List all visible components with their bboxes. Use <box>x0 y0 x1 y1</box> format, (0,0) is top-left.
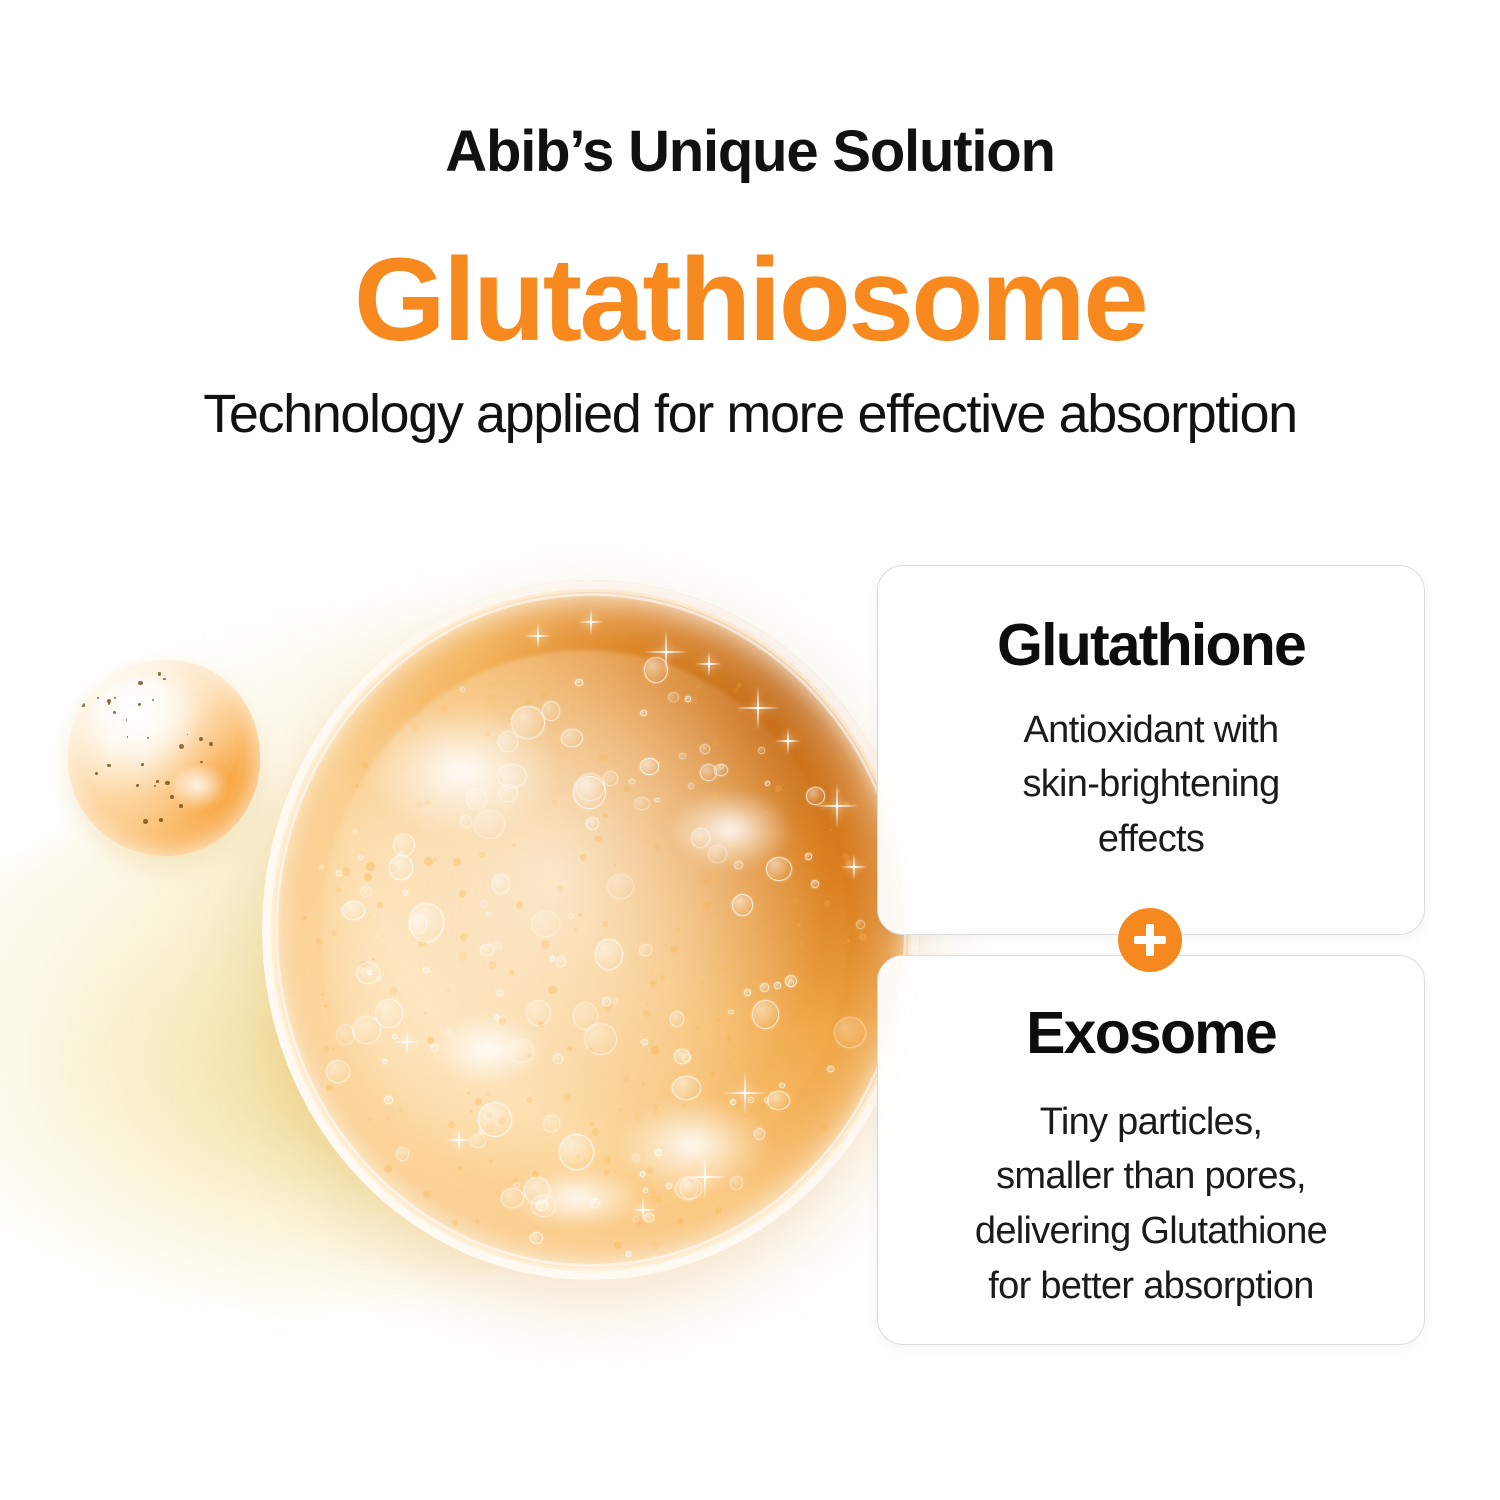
gel-grain <box>453 858 461 866</box>
gel-bubble <box>573 1002 598 1030</box>
sparkle-icon <box>525 623 551 649</box>
gel-grain <box>768 1060 773 1065</box>
gel-bubble <box>494 942 502 949</box>
gel-bubble <box>603 771 617 785</box>
gel-bubble <box>531 911 560 938</box>
droplet-speck <box>165 781 169 785</box>
gel-grain <box>433 857 438 862</box>
gel-bubble <box>607 874 634 898</box>
gel-grain <box>652 1241 661 1250</box>
gel-grain <box>324 1005 326 1007</box>
gel-bubble <box>700 744 710 753</box>
gel-grain <box>571 756 574 759</box>
gel-bubble <box>492 874 511 893</box>
gel-grain <box>431 694 435 698</box>
gel-grain <box>646 1003 648 1005</box>
gel-bubble <box>834 1017 865 1048</box>
gel-bubble <box>393 834 415 856</box>
info-card-exosome[interactable]: Exosome Tiny particles,smaller than pore… <box>877 955 1425 1345</box>
sparkle-icon <box>683 1155 727 1199</box>
gel-grain <box>824 900 831 907</box>
gel-grain <box>578 913 582 917</box>
gel-bubble <box>480 944 494 956</box>
gel-bubble <box>827 1066 834 1073</box>
gel-grain <box>381 935 383 937</box>
gel-bubble <box>375 999 402 1028</box>
droplet-speck <box>159 818 163 822</box>
sparkle-icon <box>644 630 688 674</box>
sparkle-icon <box>631 1197 657 1223</box>
gel-grain <box>424 1012 427 1015</box>
gel-grain <box>715 1017 721 1023</box>
gel-droplet <box>68 660 260 856</box>
gel-bubble <box>409 903 444 942</box>
gel-bubble <box>336 1024 354 1045</box>
gel-grain <box>342 867 350 875</box>
gel-bubble <box>586 817 599 830</box>
gel-grain <box>602 921 608 927</box>
gel-grain <box>361 1073 363 1075</box>
gel-grain <box>573 928 578 933</box>
gel-grain <box>332 1047 335 1050</box>
gel-bubble <box>389 855 413 879</box>
gel-grain <box>715 1207 722 1214</box>
gel-grain <box>423 1191 430 1198</box>
gel-sheen <box>670 790 790 870</box>
gel-bubble <box>553 1054 562 1063</box>
gel-grain <box>859 933 867 941</box>
plus-icon-vertical-bar <box>1146 924 1154 956</box>
sparkle-icon <box>723 1071 767 1115</box>
gel-grain <box>758 1052 764 1058</box>
gel-bubble <box>543 1115 560 1131</box>
gel-grain <box>419 700 422 703</box>
droplet-highlight <box>91 680 202 770</box>
gel-bubble <box>575 679 583 686</box>
gel-grain <box>399 1107 403 1111</box>
gel-bubble <box>752 1000 779 1029</box>
gel-grain <box>592 1128 599 1135</box>
gel-grain <box>567 1046 572 1051</box>
gel-bubble <box>766 857 792 881</box>
droplet-speck <box>158 672 161 675</box>
gel-bubble <box>629 779 634 785</box>
gel-grain <box>459 890 466 897</box>
gel-grain <box>703 901 711 909</box>
sparkle-icon <box>696 651 722 677</box>
gel-grain <box>475 1219 480 1224</box>
gel-bubble <box>767 1091 790 1110</box>
gel-grain <box>321 993 324 996</box>
gel-bubble <box>668 692 679 702</box>
gel-bubble <box>758 747 765 754</box>
plus-icon <box>1118 908 1182 972</box>
gel-bubble <box>641 1039 648 1045</box>
card-description: Tiny particles,smaller than pores,delive… <box>975 1095 1327 1314</box>
gel-bubble <box>358 855 363 860</box>
gel-grain <box>541 940 550 949</box>
gel-grain <box>812 1084 817 1089</box>
gel-bubble <box>319 865 324 869</box>
gel-bubble <box>576 773 605 801</box>
gel-grain <box>797 923 801 927</box>
gel-grain <box>580 854 587 861</box>
gel-grain <box>525 699 532 706</box>
gel-grain <box>487 693 495 701</box>
gel-grain <box>512 843 516 847</box>
gel-grain <box>527 1097 532 1102</box>
gel-sheen <box>512 1168 642 1228</box>
droplet-speck <box>156 780 158 782</box>
gel-grain <box>324 1046 329 1051</box>
gel-bubble <box>530 1232 543 1244</box>
droplet-speck <box>209 742 213 746</box>
gel-grain <box>720 967 726 973</box>
card-title: Glutathione <box>997 614 1305 677</box>
droplet-speck <box>97 697 99 699</box>
droplet-speck <box>89 687 91 689</box>
gel-bubble <box>728 1010 733 1014</box>
gel-grain <box>372 958 375 961</box>
eyebrow-heading: Abib’s Unique Solution <box>0 122 1500 183</box>
gel-grain <box>516 901 524 909</box>
gel-grain <box>748 1006 752 1010</box>
gel-grain <box>614 1241 622 1249</box>
gel-grain <box>303 916 308 921</box>
gel-bubble <box>353 829 358 835</box>
droplet-speck <box>170 795 175 800</box>
gel-bubble <box>674 1049 690 1064</box>
sparkle-icon <box>841 854 867 880</box>
gel-bubble <box>679 753 685 759</box>
droplet-speck <box>105 674 108 677</box>
gel-grain <box>830 829 832 831</box>
droplet-speck <box>127 736 129 738</box>
sparkle-icon <box>736 686 780 730</box>
sparkle-icon <box>578 609 604 635</box>
gel-grain <box>458 952 467 961</box>
gel-grain <box>603 1156 611 1164</box>
petri-dish <box>262 580 920 1280</box>
gel-bubble <box>326 1060 350 1083</box>
gel-grain <box>807 1008 814 1015</box>
droplet-speck <box>95 772 98 775</box>
gel-grain <box>642 1082 645 1085</box>
gel-grain <box>599 753 608 762</box>
info-card-glutathione[interactable]: Glutathione Antioxidant withskin-brighte… <box>877 565 1425 935</box>
gel-grain <box>821 1124 828 1131</box>
droplet-speck <box>179 804 183 808</box>
gel-bubble <box>526 1000 551 1026</box>
gel-bubble <box>360 886 372 897</box>
gel-bubble <box>856 920 865 930</box>
sparkle-icon <box>815 784 859 828</box>
gel-sheen <box>433 1014 543 1084</box>
gel-grain <box>467 1092 470 1095</box>
gel-bubble <box>336 870 342 876</box>
gel-grain <box>656 1196 662 1202</box>
gel-bubble <box>396 1147 409 1161</box>
droplet-speck <box>152 699 154 701</box>
gel-grain <box>595 836 601 842</box>
gel-bubble <box>688 783 694 788</box>
gel-bubble <box>626 1251 631 1257</box>
droplet-speck <box>138 681 142 685</box>
gel-bubble <box>779 1083 785 1088</box>
gel-grain <box>366 862 375 871</box>
sparkle-icon <box>394 1029 420 1055</box>
droplet-speck <box>143 819 148 824</box>
gel-bubble <box>760 983 769 991</box>
gel-grain <box>619 1109 622 1112</box>
gel-bubble <box>423 967 428 973</box>
gel-bubble <box>744 989 751 996</box>
gel-bubble <box>460 687 465 692</box>
droplet-speck <box>200 761 203 764</box>
gel-bubble <box>470 1134 486 1147</box>
gel-grain <box>570 708 575 713</box>
gel-sheen <box>367 706 557 836</box>
droplet-speck <box>141 763 144 766</box>
droplet-highlight-secondary <box>172 766 230 809</box>
gel-bubble <box>700 764 717 781</box>
gel-bubble <box>480 900 488 907</box>
gel-bubble <box>634 797 650 810</box>
gel-grain <box>798 941 803 946</box>
gel-grain <box>548 986 556 994</box>
gel-grain <box>651 1046 659 1054</box>
gel-grain <box>624 786 630 792</box>
gel-grain <box>326 1085 333 1092</box>
gel-grain <box>452 1220 458 1226</box>
page-subtitle: Technology applied for more effective ab… <box>0 385 1500 444</box>
gel-grain <box>316 938 323 945</box>
gel-grain <box>556 885 564 893</box>
promo-graphic: Abib’s Unique Solution Glutathiosome Tec… <box>0 0 1500 1500</box>
gel-grain <box>368 1117 372 1121</box>
gel-bubble <box>672 1076 700 1100</box>
sparkle-icon <box>446 1127 472 1153</box>
gel-grain <box>712 739 719 746</box>
gel-bubble <box>556 956 566 966</box>
droplet-speck <box>81 703 85 707</box>
gel-grain <box>754 908 759 913</box>
droplet-speck <box>199 737 203 741</box>
gel-grain <box>563 1093 571 1101</box>
gel-grain <box>540 692 546 698</box>
page-title: Glutathiosome <box>0 241 1500 359</box>
droplet-speck <box>154 785 156 787</box>
gel-grain <box>410 1084 412 1086</box>
droplet-speck <box>163 678 166 681</box>
gel-grain <box>677 1218 684 1225</box>
gel-grain <box>847 939 850 942</box>
gel-grain <box>331 930 337 936</box>
gel-grain <box>623 1076 630 1083</box>
gel-bubble <box>685 696 690 701</box>
gel-bubble <box>670 1011 684 1027</box>
sparkle-icon <box>775 728 801 754</box>
gel-grain <box>384 1165 392 1173</box>
gel-grain <box>475 1098 482 1105</box>
droplet-speck <box>107 764 110 767</box>
gel-bubble <box>496 990 504 997</box>
card-description: Antioxidant withskin-brighteningeffects <box>1022 703 1279 867</box>
card-title: Exosome <box>1026 1002 1276 1065</box>
droplet-speck <box>136 784 139 787</box>
gel-bubble <box>559 1134 594 1170</box>
gel-bubble <box>384 1096 393 1104</box>
gel-bubble <box>595 939 623 970</box>
gel-grain <box>791 1116 798 1123</box>
gel-bubble <box>640 710 647 716</box>
gel-grain <box>336 887 341 892</box>
gel-grain <box>649 980 657 988</box>
gel-grain <box>460 933 468 941</box>
gel-grain <box>752 1047 758 1053</box>
droplet-speck <box>138 703 140 705</box>
